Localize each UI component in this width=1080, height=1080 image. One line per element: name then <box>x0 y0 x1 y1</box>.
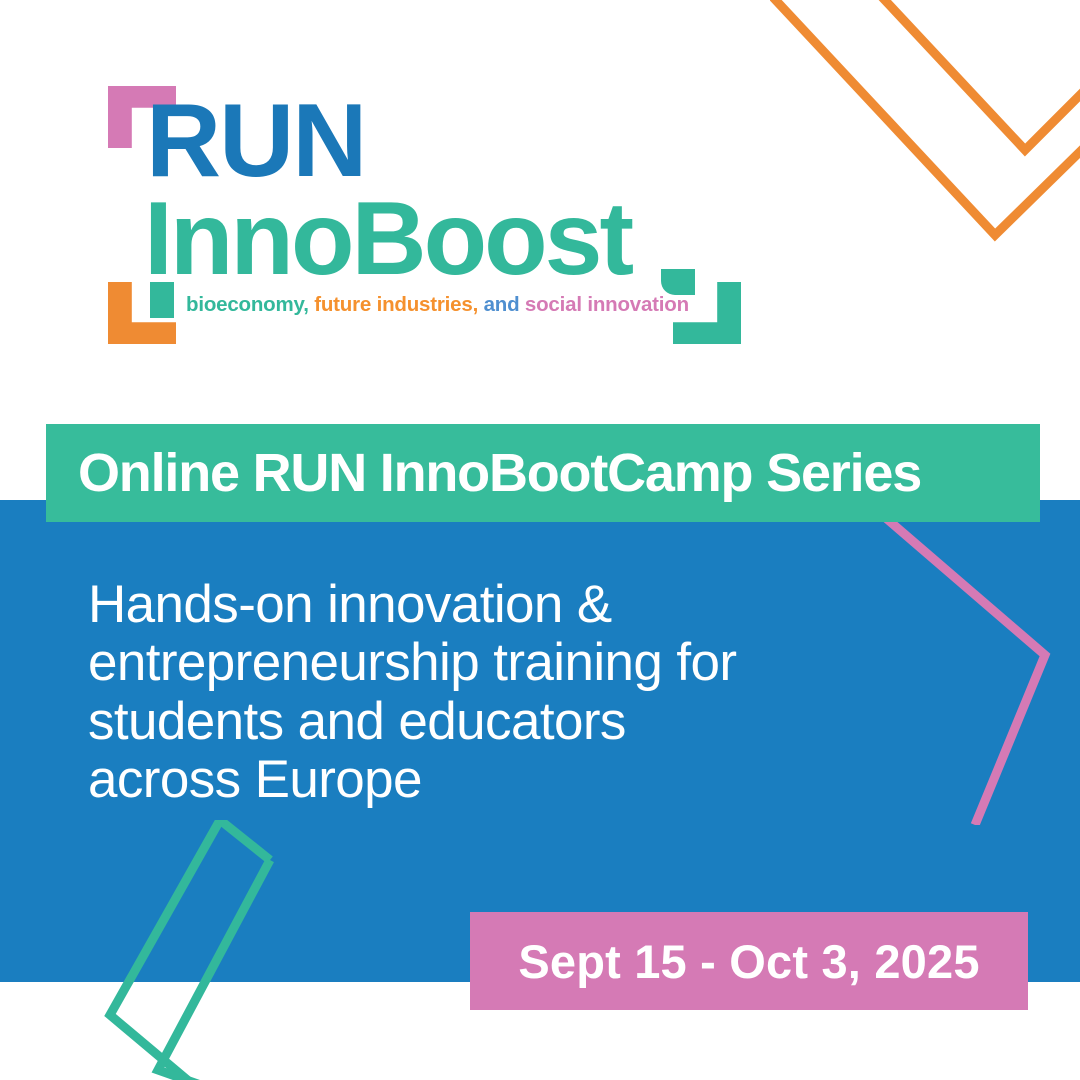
body-copy-line-2: entrepreneurship training for <box>88 634 888 692</box>
top-right-orange-chevron-icon <box>770 0 1080 260</box>
logo-bracket-teal-nub-icon <box>661 269 695 295</box>
poster-canvas: RUN InnoBoost bioeconomy, future industr… <box>0 0 1080 1080</box>
tagline-and: and <box>484 293 525 316</box>
tagline-social-innovation: social innovation <box>525 293 689 316</box>
tagline-bioeconomy: bioeconomy <box>186 293 303 316</box>
date-badge: Sept 15 - Oct 3, 2025 <box>470 912 1028 1010</box>
run-innoboost-logo: RUN InnoBoost bioeconomy, future industr… <box>108 86 748 344</box>
tagline-sep-1: , <box>303 293 314 316</box>
body-copy-line-1: Hands-on innovation & <box>88 576 888 634</box>
body-copy-line-3: students and educators <box>88 693 888 751</box>
logo-wordmark-innoboost: InnoBoost <box>144 194 631 286</box>
body-copy: Hands-on innovation & entrepreneurship t… <box>88 576 888 809</box>
headline-banner: Online RUN InnoBootCamp Series <box>46 424 1040 522</box>
logo-tagline: bioeconomy, future industries, and socia… <box>186 293 689 317</box>
headline-banner-title: Online RUN InnoBootCamp Series <box>78 446 921 500</box>
date-badge-label: Sept 15 - Oct 3, 2025 <box>518 934 979 989</box>
body-copy-line-4: across Europe <box>88 751 888 809</box>
tagline-sep-2: , <box>473 293 484 316</box>
logo-wordmark-run: RUN <box>146 96 365 188</box>
tagline-future-industries: future industries <box>314 293 472 316</box>
